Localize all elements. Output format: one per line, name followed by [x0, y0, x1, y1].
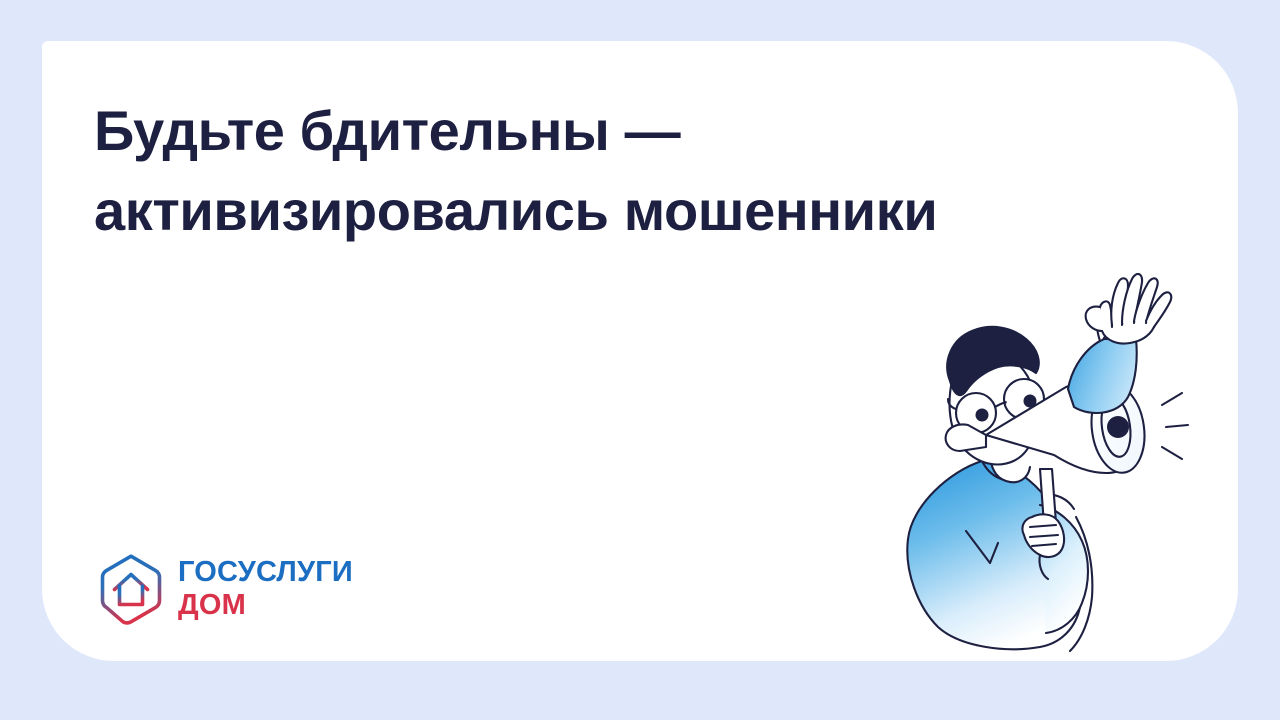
content-card: Будьте бдительны — активизировались моше…: [42, 41, 1238, 661]
logo-wordmark: ГОСУСЛУГИ ДОМ: [178, 558, 353, 620]
logo-line-gosuslugi: ГОСУСЛУГИ: [178, 558, 353, 587]
page-title: Будьте бдительны — активизировались моше…: [94, 91, 1094, 250]
person-with-megaphone-illustration: [890, 255, 1220, 655]
house-in-hexagon-icon: [98, 553, 164, 625]
gosuslugi-dom-logo[interactable]: ГОСУСЛУГИ ДОМ: [98, 553, 353, 625]
logo-line-dom: ДОМ: [178, 591, 353, 620]
slide-root: Будьте бдительны — активизировались моше…: [0, 0, 1280, 720]
